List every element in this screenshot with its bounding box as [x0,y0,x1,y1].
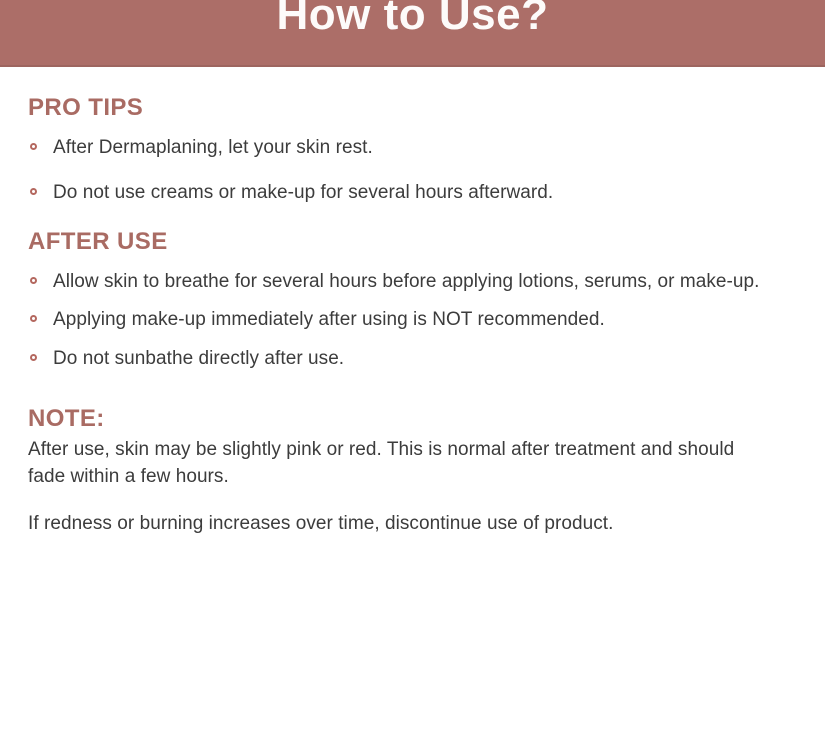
section-after-use: AFTER USE Allow skin to breathe for seve… [28,206,797,372]
after-use-list: Allow skin to breathe for several hours … [28,268,797,372]
list-item-text: Allow skin to breathe for several hours … [53,271,760,292]
list-item: Applying make-up immediately after using… [28,306,797,333]
section-heading-note: NOTE: [28,405,797,433]
note-paragraph-secondary: If redness or burning increases over tim… [28,510,740,537]
page-header-banner: How to Use? [0,0,825,67]
how-to-use-page: How to Use? PRO TIPS After Dermaplaning,… [0,0,825,738]
ring-bullet-icon [30,143,37,150]
section-note: NOTE: After use, skin may be slightly pi… [28,384,797,537]
ring-bullet-icon [30,354,37,361]
ring-bullet-icon [30,188,37,195]
list-item: Do not use creams or make-up for several… [28,179,797,206]
list-item: Do not sunbathe directly after use. [28,345,797,372]
list-item-text: Do not use creams or make-up for several… [53,182,553,203]
list-item-text: Applying make-up immediately after using… [53,309,605,330]
list-item-text: Do not sunbathe directly after use. [53,348,344,369]
note-paragraph-primary: After use, skin may be slightly pink or … [28,436,740,490]
ring-bullet-icon [30,315,37,322]
list-item: Allow skin to breathe for several hours … [28,268,797,295]
content-area: PRO TIPS After Dermaplaning, let your sk… [0,67,825,537]
section-heading-pro-tips: PRO TIPS [28,94,797,122]
section-pro-tips: PRO TIPS After Dermaplaning, let your sk… [28,67,797,206]
pro-tips-list: After Dermaplaning, let your skin rest. … [28,134,797,206]
list-item: After Dermaplaning, let your skin rest. [28,134,797,161]
section-heading-after-use: AFTER USE [28,228,797,256]
page-title: How to Use? [0,0,825,41]
list-item-text: After Dermaplaning, let your skin rest. [53,137,373,158]
ring-bullet-icon [30,277,37,284]
